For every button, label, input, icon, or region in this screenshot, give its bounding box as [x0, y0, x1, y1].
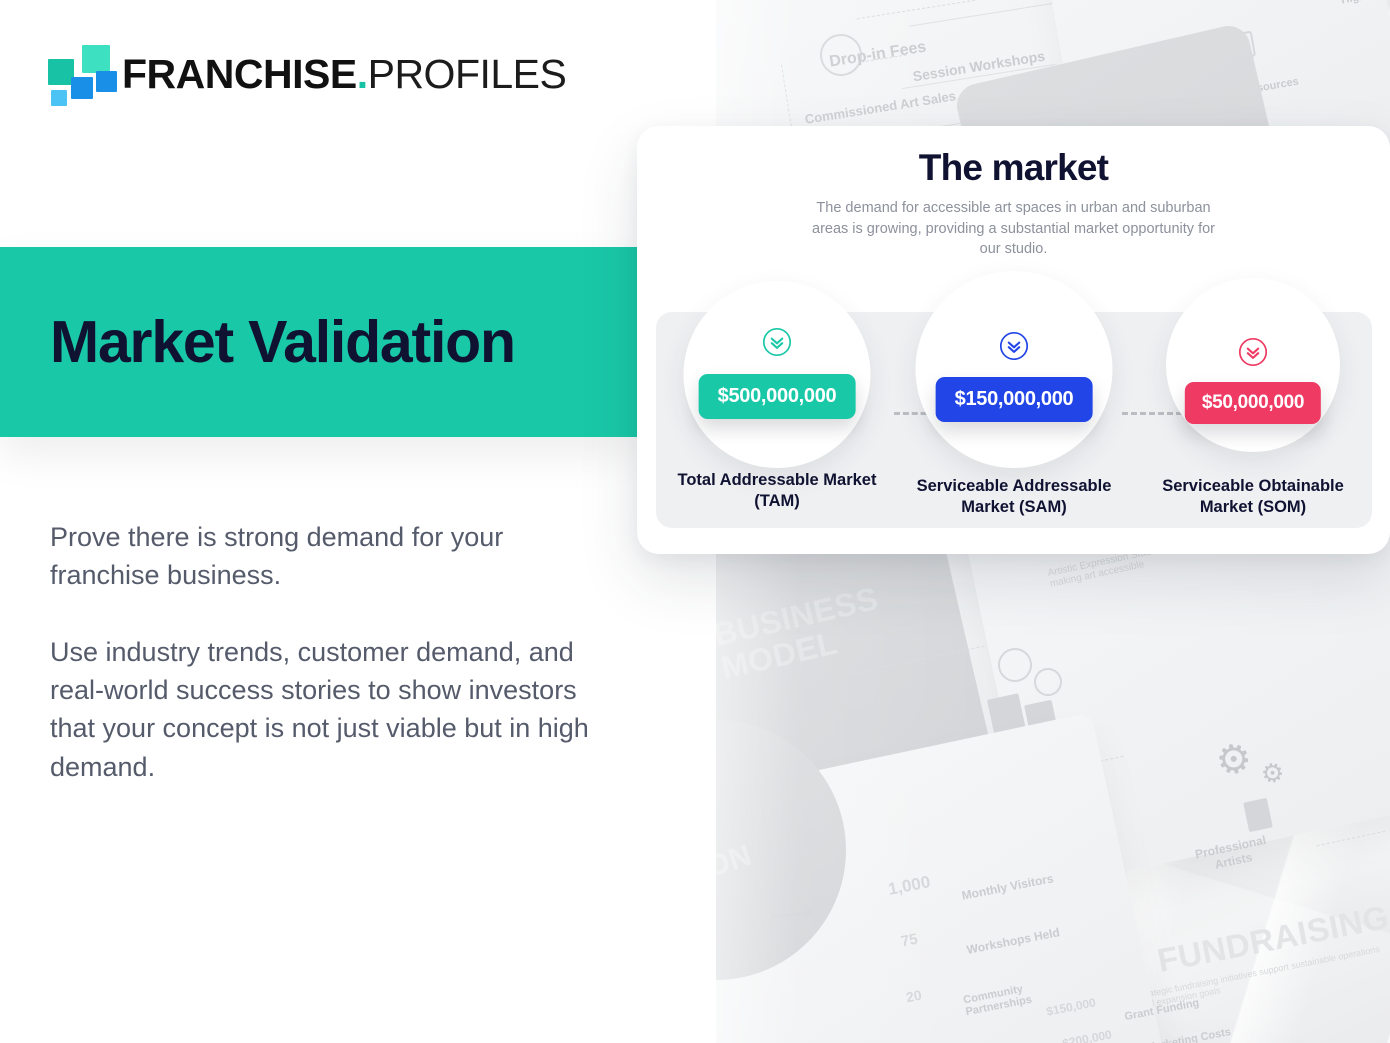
- gear-icon: ⚙: [1259, 758, 1287, 788]
- tier-value-badge: $150,000,000: [936, 377, 1093, 422]
- double-chevron-down-icon: [999, 331, 1029, 361]
- brand-name-dot: .: [357, 51, 368, 97]
- tier-value-badge: $500,000,000: [699, 374, 856, 419]
- double-chevron-down-icon: [762, 327, 792, 357]
- bg-metric: 75: [900, 931, 920, 951]
- arrow-icon: ⟶: [770, 898, 816, 932]
- paragraph-2: Use industry trends, customer demand, an…: [50, 633, 590, 786]
- tier-som[interactable]: $50,000,000 Serviceable Obtainable Marke…: [1140, 312, 1366, 528]
- brand-wordmark: FRANCHISE.PROFILES: [122, 54, 566, 95]
- market-card: The market The demand for accessible art…: [637, 126, 1390, 554]
- market-tiers-panel: $500,000,000 Total Addressable Market (T…: [656, 312, 1372, 528]
- brand-name-bold: FRANCHISE: [122, 51, 357, 97]
- bg-metric: 20: [905, 987, 923, 1006]
- title-banner: Market Validation: [0, 247, 637, 437]
- tier-label: Total Addressable Market (TAM): [677, 470, 877, 512]
- bg-dash: [1317, 831, 1386, 847]
- tier-sam[interactable]: $150,000,000 Serviceable Addressable Mar…: [901, 312, 1127, 528]
- brand-logo: FRANCHISE.PROFILES: [48, 43, 566, 105]
- logo-squares-icon: [48, 45, 110, 103]
- brand-name-light: PROFILES: [368, 51, 567, 97]
- tier-label: Serviceable Addressable Market (SAM): [914, 476, 1114, 518]
- tier-circle: [916, 271, 1113, 468]
- slide-canvas: Drop-in Fees Session Workshops Commissio…: [0, 0, 1390, 1043]
- card-subtitle: The demand for accessible art spaces in …: [801, 198, 1226, 260]
- page-title: Market Validation: [50, 308, 515, 376]
- tier-value-badge: $50,000,000: [1185, 382, 1321, 424]
- description-copy: Prove there is strong demand for your fr…: [50, 518, 590, 786]
- paragraph-1: Prove there is strong demand for your fr…: [50, 518, 590, 595]
- card-title: The market: [637, 147, 1390, 189]
- tier-label: Serviceable Obtainable Market (SOM): [1153, 476, 1353, 518]
- double-chevron-down-icon: [1238, 337, 1268, 367]
- tier-tam[interactable]: $500,000,000 Total Addressable Market (T…: [664, 312, 890, 528]
